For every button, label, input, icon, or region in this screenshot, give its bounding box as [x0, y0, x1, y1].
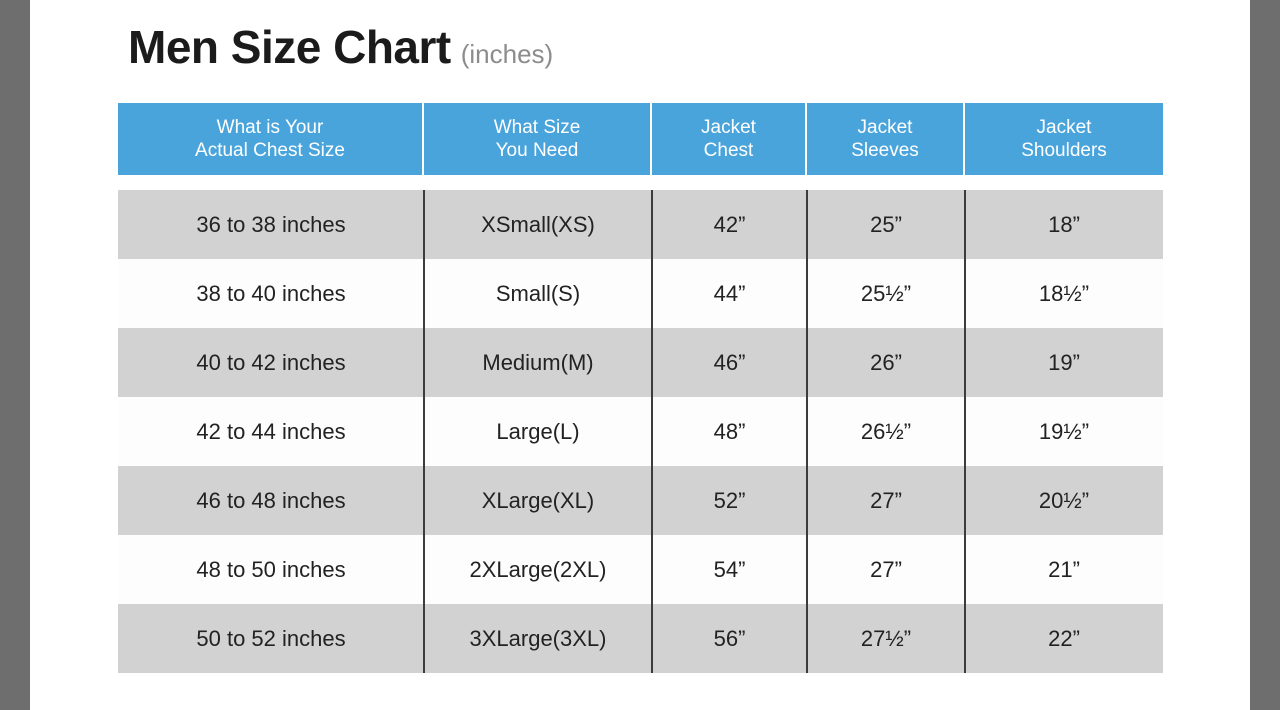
table-row: 50 to 52 inches 3XLarge(3XL) 56” 27½” 22…	[118, 604, 1163, 673]
column-header-jacket-shoulders: Jacket Shoulders	[965, 103, 1163, 175]
column-divider-1	[423, 190, 425, 673]
cell-size: Small(S)	[424, 259, 652, 328]
cell-jacket-sleeves: 27”	[807, 466, 965, 535]
page-title-unit: (inches)	[461, 39, 553, 70]
column-divider-3	[806, 190, 808, 673]
table-row: 36 to 38 inches XSmall(XS) 42” 25” 18”	[118, 190, 1163, 259]
cell-jacket-sleeves: 27½”	[807, 604, 965, 673]
letterbox-right	[1250, 0, 1280, 710]
column-divider-4	[964, 190, 966, 673]
column-header-line1: Jacket	[1037, 116, 1092, 139]
size-chart-table: What is Your Actual Chest Size What Size…	[118, 103, 1163, 673]
cell-size: Medium(M)	[424, 328, 652, 397]
cell-size: 2XLarge(2XL)	[424, 535, 652, 604]
cell-jacket-sleeves: 27”	[807, 535, 965, 604]
cell-jacket-shoulders: 19”	[965, 328, 1163, 397]
column-header-line2: Chest	[704, 139, 754, 162]
cell-jacket-sleeves: 25”	[807, 190, 965, 259]
column-header-size-you-need: What Size You Need	[424, 103, 652, 175]
cell-jacket-shoulders: 18”	[965, 190, 1163, 259]
cell-size: XSmall(XS)	[424, 190, 652, 259]
cell-jacket-chest: 46”	[652, 328, 807, 397]
cell-chest-range: 38 to 40 inches	[118, 259, 424, 328]
cell-jacket-sleeves: 26½”	[807, 397, 965, 466]
cell-chest-range: 36 to 38 inches	[118, 190, 424, 259]
cell-size: 3XLarge(3XL)	[424, 604, 652, 673]
table-body: 36 to 38 inches XSmall(XS) 42” 25” 18” 3…	[118, 190, 1163, 673]
column-header-line1: Jacket	[858, 116, 913, 139]
cell-jacket-chest: 42”	[652, 190, 807, 259]
cell-jacket-shoulders: 19½”	[965, 397, 1163, 466]
cell-jacket-shoulders: 22”	[965, 604, 1163, 673]
table-header-row: What is Your Actual Chest Size What Size…	[118, 103, 1163, 175]
cell-jacket-chest: 44”	[652, 259, 807, 328]
column-header-line2: Sleeves	[851, 139, 919, 162]
column-header-line2: You Need	[496, 139, 579, 162]
table-row: 42 to 44 inches Large(L) 48” 26½” 19½”	[118, 397, 1163, 466]
cell-chest-range: 50 to 52 inches	[118, 604, 424, 673]
cell-chest-range: 46 to 48 inches	[118, 466, 424, 535]
letterbox-left	[0, 0, 30, 710]
cell-jacket-chest: 48”	[652, 397, 807, 466]
cell-jacket-sleeves: 25½”	[807, 259, 965, 328]
table-row: 38 to 40 inches Small(S) 44” 25½” 18½”	[118, 259, 1163, 328]
table-row: 40 to 42 inches Medium(M) 46” 26” 19”	[118, 328, 1163, 397]
table-row: 46 to 48 inches XLarge(XL) 52” 27” 20½”	[118, 466, 1163, 535]
cell-jacket-chest: 52”	[652, 466, 807, 535]
column-header-jacket-sleeves: Jacket Sleeves	[807, 103, 965, 175]
column-header-line2: Actual Chest Size	[195, 139, 345, 162]
page-title-main: Men Size Chart	[128, 20, 451, 74]
cell-chest-range: 42 to 44 inches	[118, 397, 424, 466]
column-header-line1: What is Your	[217, 116, 324, 139]
cell-jacket-sleeves: 26”	[807, 328, 965, 397]
column-divider-2	[651, 190, 653, 673]
column-header-actual-chest-size: What is Your Actual Chest Size	[118, 103, 424, 175]
column-header-line1: What Size	[494, 116, 581, 139]
cell-jacket-shoulders: 18½”	[965, 259, 1163, 328]
page-title: Men Size Chart (inches)	[128, 20, 553, 74]
cell-jacket-chest: 54”	[652, 535, 807, 604]
cell-chest-range: 40 to 42 inches	[118, 328, 424, 397]
column-header-line2: Shoulders	[1021, 139, 1107, 162]
cell-size: XLarge(XL)	[424, 466, 652, 535]
size-chart-page: Men Size Chart (inches) What is Your Act…	[30, 0, 1250, 710]
column-header-line1: Jacket	[701, 116, 756, 139]
cell-jacket-chest: 56”	[652, 604, 807, 673]
cell-jacket-shoulders: 20½”	[965, 466, 1163, 535]
header-body-gap	[118, 175, 1163, 190]
table-row: 48 to 50 inches 2XLarge(2XL) 54” 27” 21”	[118, 535, 1163, 604]
cell-jacket-shoulders: 21”	[965, 535, 1163, 604]
cell-chest-range: 48 to 50 inches	[118, 535, 424, 604]
column-header-jacket-chest: Jacket Chest	[652, 103, 807, 175]
cell-size: Large(L)	[424, 397, 652, 466]
